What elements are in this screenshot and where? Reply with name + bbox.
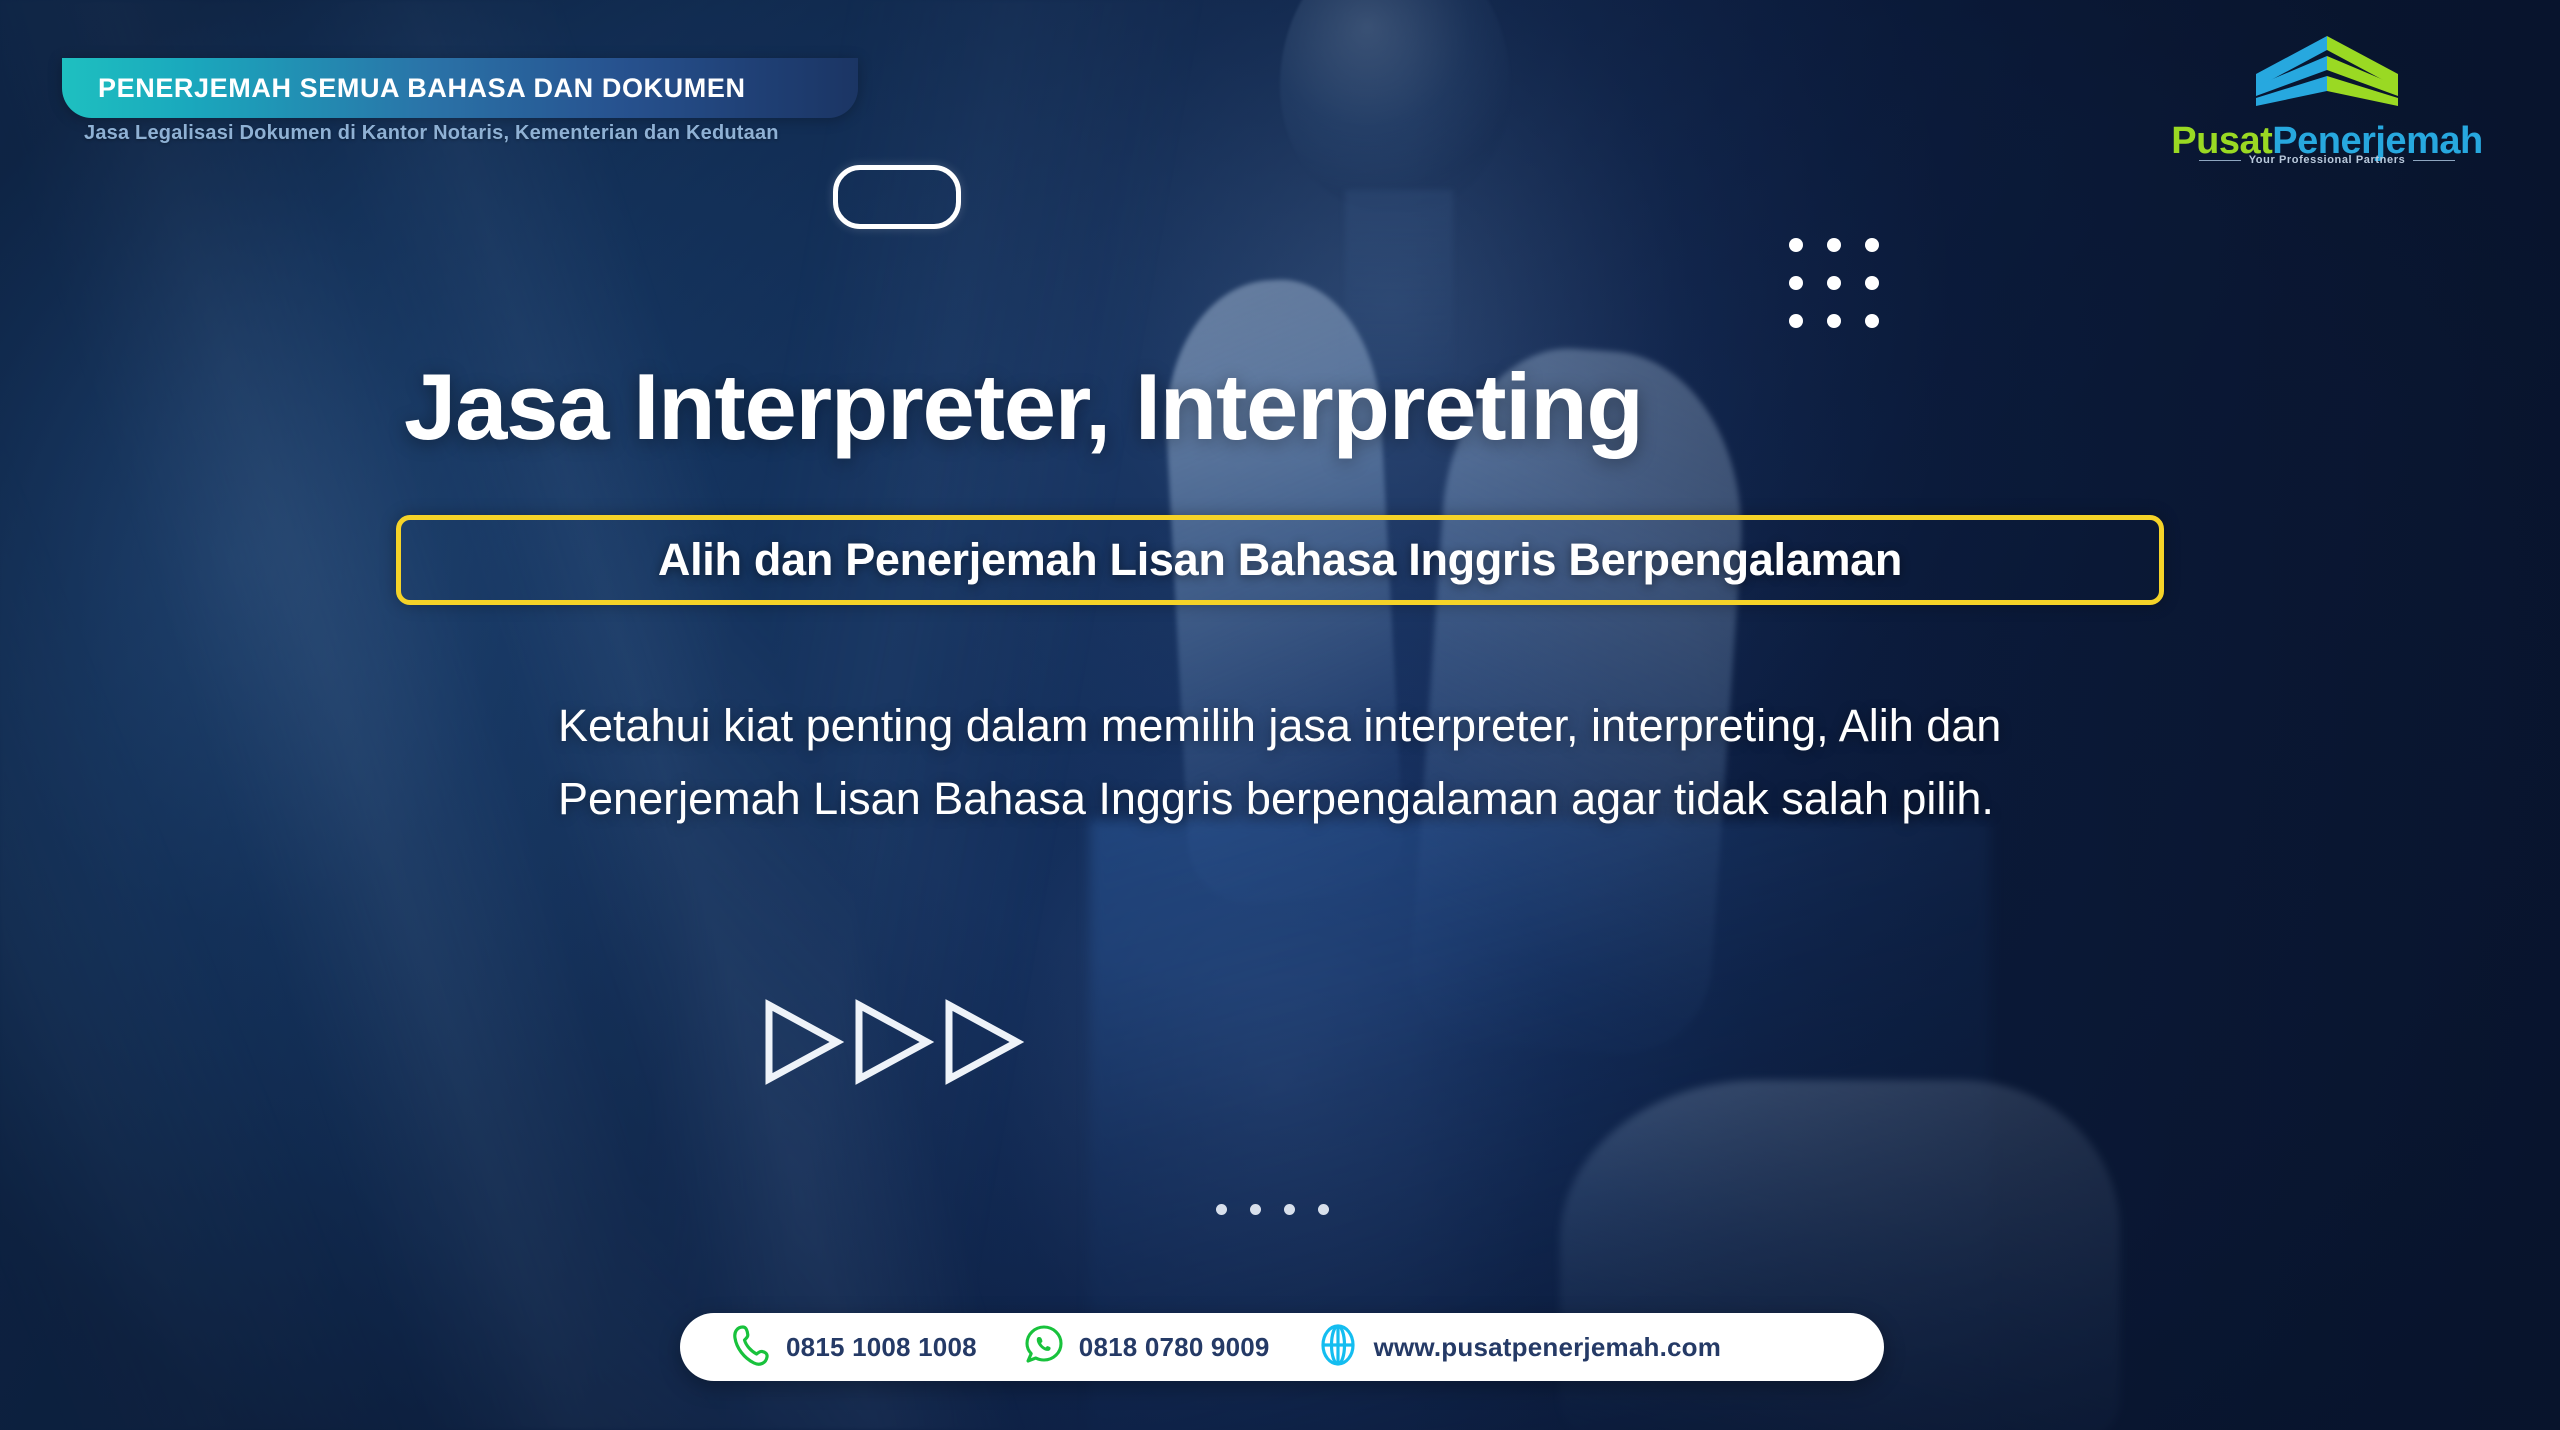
phone-icon <box>732 1323 772 1372</box>
building-mark-icon <box>2234 34 2420 123</box>
contact-whatsapp-number: 0818 0780 9009 <box>1079 1332 1270 1363</box>
decorative-mini-dot-row <box>1216 1204 1329 1215</box>
logo-tagline-row: Your Professional Partners <box>2142 154 2512 166</box>
mini-dot <box>1216 1204 1227 1215</box>
hero-subtitle-text: Alih dan Penerjemah Lisan Bahasa Inggris… <box>658 534 1902 586</box>
play-triangle-icon <box>942 998 1024 1086</box>
grid-dot <box>1789 238 1803 252</box>
play-triangle-icon <box>852 998 934 1086</box>
grid-dot <box>1865 314 1879 328</box>
decorative-arrow-row <box>762 998 1024 1086</box>
play-triangle-icon <box>762 998 844 1086</box>
grid-dot <box>1827 314 1841 328</box>
service-banner-label: PENERJEMAH SEMUA BAHASA DAN DOKUMEN <box>62 73 746 104</box>
contact-bar: 0815 1008 1008 0818 0780 9009 <box>680 1313 1884 1381</box>
tagline-rule-right <box>2413 160 2455 161</box>
decorative-dot-grid <box>1789 238 1879 328</box>
whatsapp-icon <box>1023 1323 1065 1372</box>
service-banner: PENERJEMAH SEMUA BAHASA DAN DOKUMEN <box>62 58 858 118</box>
company-logo[interactable]: PusatPenerjemah Your Professional Partne… <box>2142 34 2512 160</box>
grid-dot <box>1827 238 1841 252</box>
grid-dot <box>1827 276 1841 290</box>
hero-headline: Jasa Interpreter, Interpreting <box>404 358 2164 456</box>
contact-item-phone[interactable]: 0815 1008 1008 <box>732 1323 977 1372</box>
tagline-rule-left <box>2199 160 2241 161</box>
grid-dot <box>1789 276 1803 290</box>
contact-item-whatsapp[interactable]: 0818 0780 9009 <box>1023 1323 1270 1372</box>
contact-website-url: www.pusatpenerjemah.com <box>1374 1332 1722 1363</box>
mini-dot <box>1284 1204 1295 1215</box>
hero-subtitle-box: Alih dan Penerjemah Lisan Bahasa Inggris… <box>396 515 2164 605</box>
logo-tagline-text: Your Professional Partners <box>2249 154 2406 166</box>
mini-dot <box>1250 1204 1261 1215</box>
mini-dot <box>1318 1204 1329 1215</box>
hero-body-copy: Ketahui kiat penting dalam memilih jasa … <box>558 690 2098 836</box>
grid-dot <box>1789 314 1803 328</box>
grid-dot <box>1865 238 1879 252</box>
contact-item-website[interactable]: www.pusatpenerjemah.com <box>1316 1322 1722 1373</box>
contact-phone-number: 0815 1008 1008 <box>786 1332 977 1363</box>
globe-icon <box>1316 1322 1360 1373</box>
service-banner-subtitle: Jasa Legalisasi Dokumen di Kantor Notari… <box>84 122 779 145</box>
promo-banner-canvas: PENERJEMAH SEMUA BAHASA DAN DOKUMEN Jasa… <box>0 0 2560 1430</box>
grid-dot <box>1865 276 1879 290</box>
decorative-pill-outline <box>833 165 961 229</box>
